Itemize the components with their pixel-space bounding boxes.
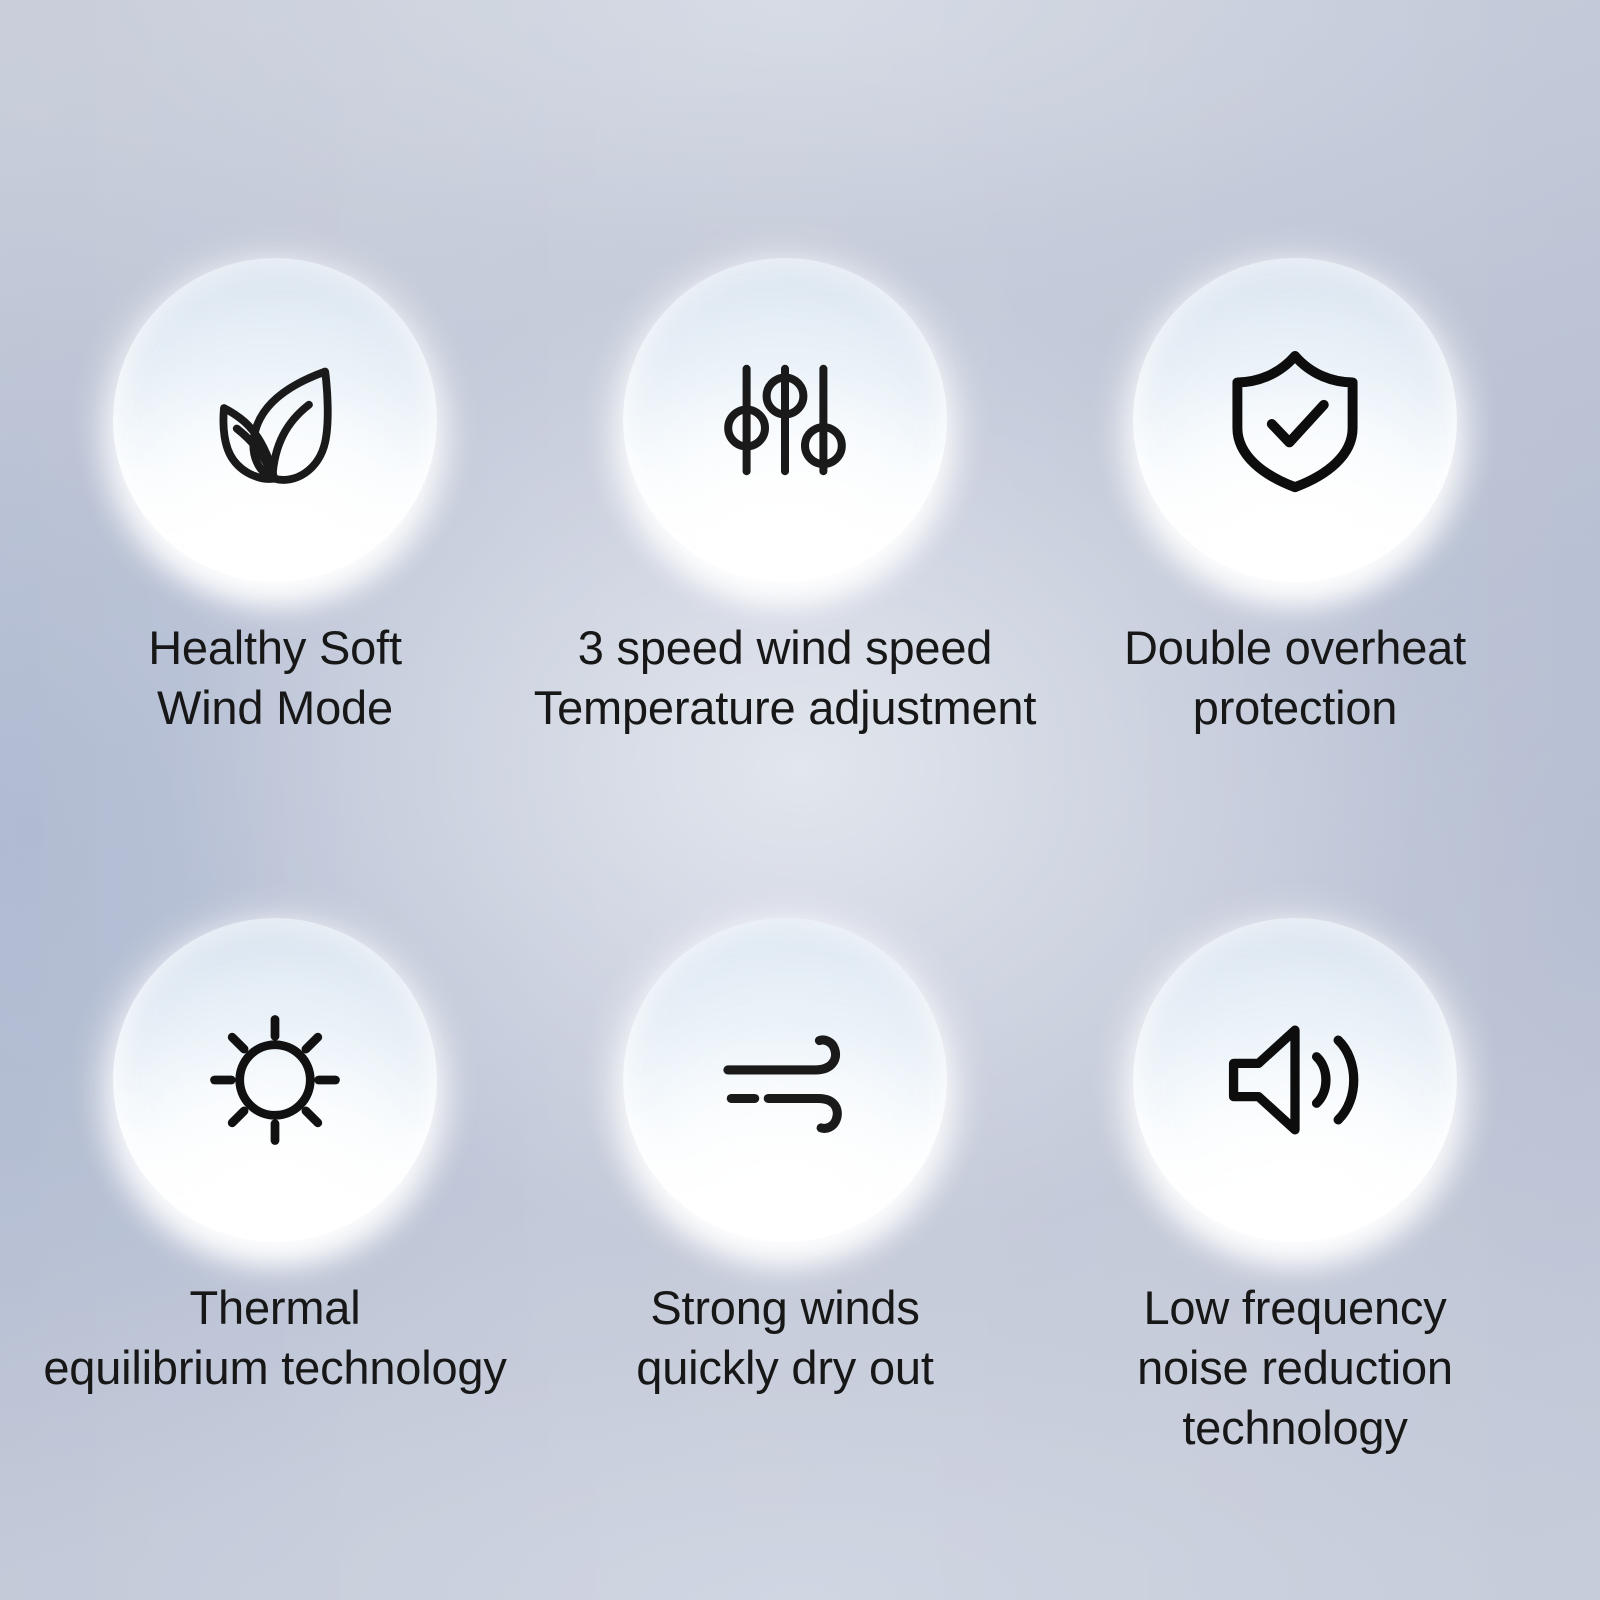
wind-icon [701,996,869,1164]
feature-card-strong-winds-quickly-dry-out[interactable]: Strong winds quickly dry out [530,918,1040,1398]
sun-icon [191,996,359,1164]
medallion [623,258,947,582]
feature-card-thermal-equilibrium-technology[interactable]: Thermal equilibrium technology [20,918,530,1398]
medallion [113,918,437,1242]
medallion [623,918,947,1242]
medallion [1133,918,1457,1242]
feature-card-healthy-soft-wind-mode[interactable]: Healthy Soft Wind Mode [20,258,530,738]
speaker-volume-icon [1212,997,1378,1163]
medallion [1133,258,1457,582]
sliders-icon [705,340,865,500]
medallion-disc [1133,258,1457,582]
feature-label: Strong winds quickly dry out [530,1278,1040,1398]
feature-grid: Healthy Soft Wind Mode [0,0,1600,1600]
medallion [113,258,437,582]
medallion-disc [1133,918,1457,1242]
leaf-icon [190,335,360,505]
feature-card-low-frequency-noise-reduction[interactable]: Low frequency noise reduction technology [1040,918,1550,1458]
medallion-disc [113,258,437,582]
medallion-disc [113,918,437,1242]
feature-poster: Healthy Soft Wind Mode [0,0,1600,1600]
feature-label: 3 speed wind speed Temperature adjustmen… [530,618,1040,738]
medallion-disc [623,918,947,1242]
shield-check-icon [1215,340,1375,500]
feature-label: Thermal equilibrium technology [20,1278,530,1398]
feature-card-double-overheat-protection[interactable]: Double overheat protection [1040,258,1550,738]
feature-label: Healthy Soft Wind Mode [20,618,530,738]
medallion-disc [623,258,947,582]
feature-card-three-speed-wind-temperature[interactable]: 3 speed wind speed Temperature adjustmen… [530,258,1040,738]
feature-label: Double overheat protection [1040,618,1550,738]
feature-label: Low frequency noise reduction technology [1040,1278,1550,1458]
